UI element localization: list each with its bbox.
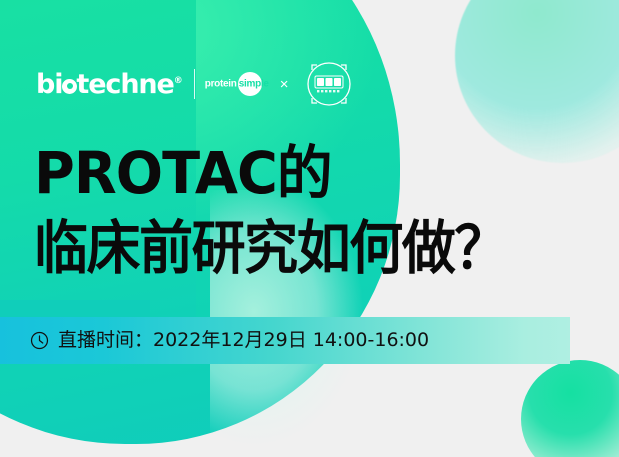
schedule-content: 直播时间：2022年12月29日 14:00-16:00 <box>30 331 429 350</box>
biotechne-dot-icon <box>62 79 77 94</box>
logo-divider <box>194 69 195 99</box>
clock-icon <box>30 331 49 350</box>
decorative-circle-top-right <box>455 0 619 163</box>
logo-row: bitechne® protein simple × <box>36 62 356 106</box>
schedule-bar: 直播时间：2022年12月29日 14:00-16:00 <box>0 317 570 364</box>
proteinsimple-logo: protein simple <box>205 71 267 97</box>
schedule-text: 直播时间：2022年12月29日 14:00-16:00 <box>58 331 429 350</box>
headline-line-2: 临床前研究如何做？ <box>34 219 507 277</box>
proteinsimple-logo-text-left: protein <box>205 79 237 90</box>
collaboration-symbol: × <box>280 77 289 92</box>
pharmacircle-logo <box>302 59 356 109</box>
biotechne-logo-text-end: techne <box>76 69 173 100</box>
headline-line-1: PROTAC的 <box>34 144 522 202</box>
webinar-promo-banner: bitechne® protein simple × <box>0 0 619 457</box>
registered-trademark-icon: ® <box>174 76 183 86</box>
biotechne-logo: bitechne® <box>36 71 183 98</box>
decorative-circle-bottom-right <box>521 360 619 457</box>
proteinsimple-logo-text-right: simple <box>239 79 269 90</box>
biotechne-logo-text-start: bi <box>36 69 62 100</box>
pharmacircle-emblem-icon <box>302 59 356 109</box>
headline-block: PROTAC的 临床前研究如何做？ <box>34 144 543 277</box>
